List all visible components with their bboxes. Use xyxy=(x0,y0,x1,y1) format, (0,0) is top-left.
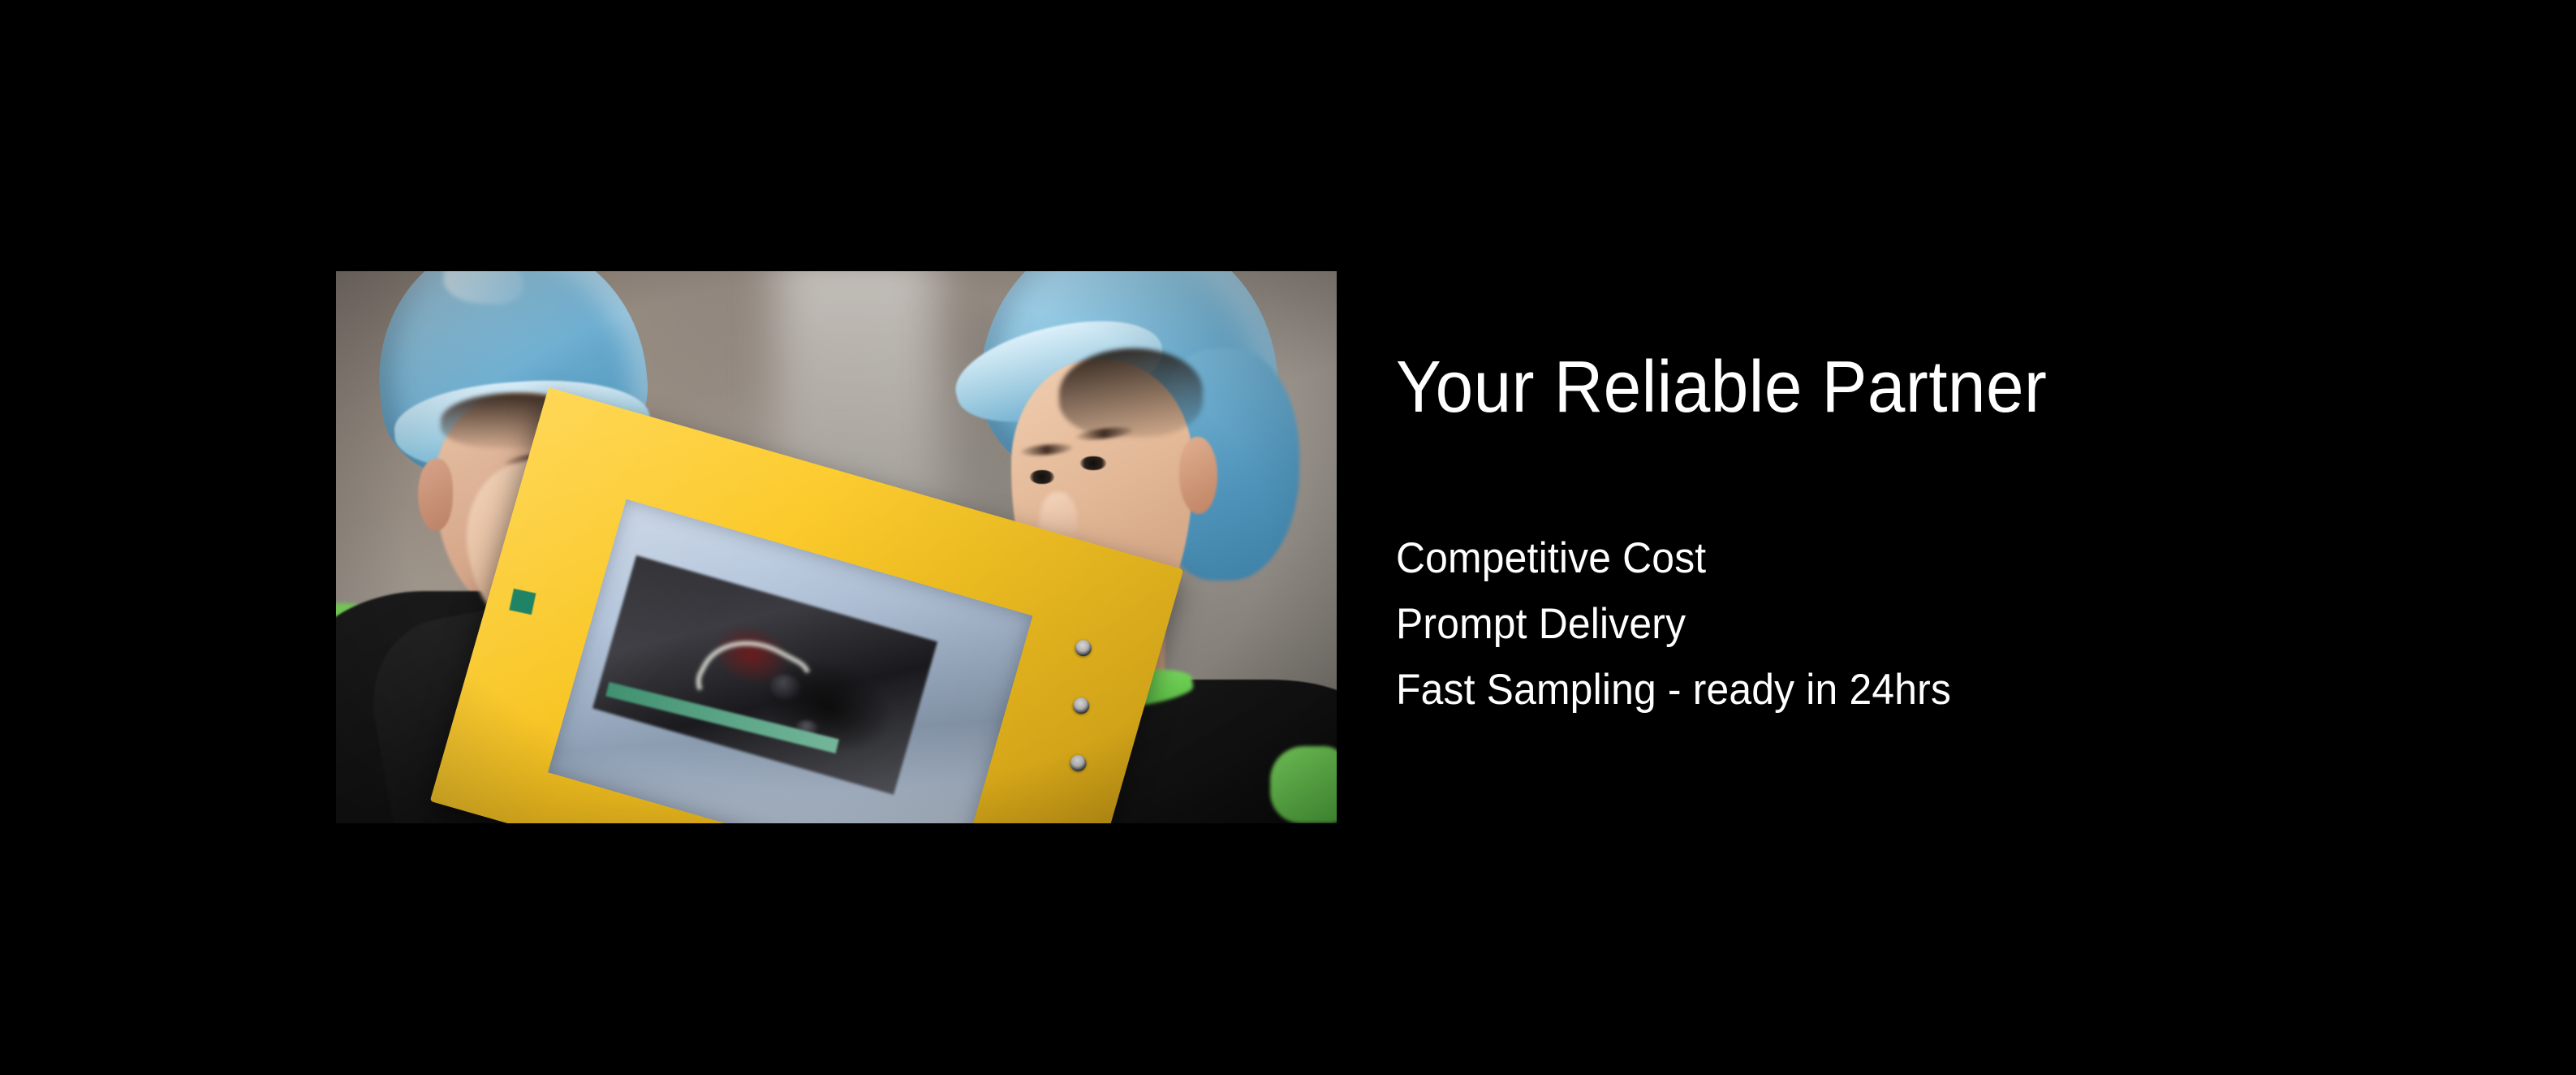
benefit-item-competitive-cost: Competitive Cost xyxy=(1396,525,2311,591)
photo-scene xyxy=(336,271,1337,823)
board-green-marker-tab xyxy=(509,589,536,615)
board-eyelet-1 xyxy=(1074,637,1094,658)
board-eyelet-2 xyxy=(1070,695,1091,715)
right-worker-ear xyxy=(1179,437,1217,514)
benefit-item-prompt-delivery: Prompt Delivery xyxy=(1396,591,2311,657)
marketing-text-block: Your Reliable Partner Competitive Cost P… xyxy=(1396,349,2370,723)
factory-workers-photo xyxy=(336,271,1337,823)
board-eyelet-3 xyxy=(1068,753,1088,773)
left-cap-fold xyxy=(442,271,525,306)
promo-banner-slide: Your Reliable Partner Competitive Cost P… xyxy=(0,0,2576,1075)
benefit-item-fast-sampling: Fast Sampling - ready in 24hrs xyxy=(1396,657,2311,723)
board-printed-sheet xyxy=(548,499,1032,823)
left-worker-ear xyxy=(418,459,453,530)
headline: Your Reliable Partner xyxy=(1396,349,2302,426)
right-worker-green-cuff xyxy=(1270,746,1337,823)
benefits-list: Competitive Cost Prompt Delivery Fast Sa… xyxy=(1396,525,2370,723)
board-reference-photo xyxy=(592,555,937,795)
right-worker-hair xyxy=(1059,348,1204,437)
